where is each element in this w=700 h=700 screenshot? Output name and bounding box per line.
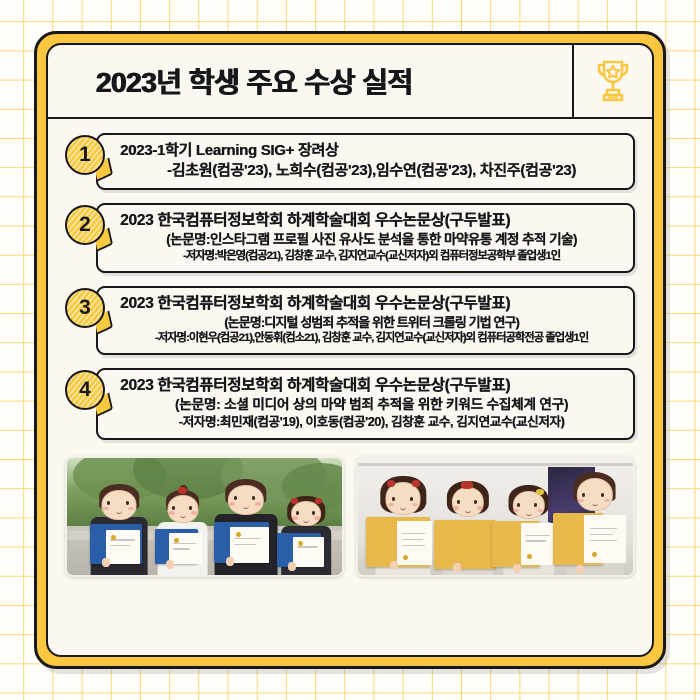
page-title: 2023년 학생 주요 수상 실적: [96, 61, 413, 101]
award-paper-3: (논문명:디지털 성범죄 추적을 위한 트위터 크롤링 기법 연구): [120, 314, 623, 331]
award-title-1: 2023-1학기 Learning SIG+ 장려상: [120, 141, 623, 161]
award-authors-1: -김초원(컴공'23), 노희수(컴공'23),임수연(컴공'23), 차진주(…: [120, 161, 623, 181]
poster-card: 2023년 학생 주요 수상 실적: [34, 31, 666, 669]
award-title-4: 2023 한국컴퓨터정보학회 하계학술대회 우수논문상(구두발표): [120, 376, 623, 396]
award-item-1: 1 2023-1학기 Learning SIG+ 장려상 -김초원(컴공'23)…: [65, 133, 635, 190]
award-box-4: 2023 한국컴퓨터정보학회 하계학술대회 우수논문상(구두발표) (논문명: …: [96, 368, 635, 440]
award-paper-2: (논문명:인스타그램 프로필 사진 유사도 분석을 통한 마약유통 계정 추적 …: [120, 231, 623, 249]
award-title-3: 2023 한국컴퓨터정보학회 하계학술대회 우수논문상(구두발표): [120, 294, 623, 314]
award-authors-3: -저자명:이현우(컴공21),안동휘(컴소21), 김창훈 교수, 김지연교수(…: [120, 331, 623, 346]
award-number-badge-3: 3: [65, 288, 105, 328]
award-paper-4: (논문명: 소셜 미디어 상의 마약 범죄 추적을 위한 키워드 수집체계 연구…: [120, 396, 623, 414]
award-photo-outdoor: [65, 456, 344, 577]
award-photo-indoor: [356, 456, 635, 577]
award-box-1: 2023-1학기 Learning SIG+ 장려상 -김초원(컴공'23), …: [96, 133, 635, 190]
photo-row: [48, 453, 652, 577]
award-number-badge-1: 1: [65, 135, 105, 175]
award-box-3: 2023 한국컴퓨터정보학회 하계학술대회 우수논문상(구두발표) (논문명:디…: [96, 286, 635, 355]
award-item-3: 3 2023 한국컴퓨터정보학회 하계학술대회 우수논문상(구두발표) (논문명…: [65, 286, 635, 355]
award-number-badge-2: 2: [65, 205, 105, 245]
award-authors-2: -저자명:박은영(컴공21), 김창훈 교수, 김지연교수(교신저자)외 컴퓨터…: [120, 249, 623, 264]
award-number-badge-4: 4: [65, 370, 105, 410]
awards-list: 1 2023-1학기 Learning SIG+ 장려상 -김초원(컴공'23)…: [48, 119, 652, 440]
award-title-2: 2023 한국컴퓨터정보학회 하계학술대회 우수논문상(구두발표): [120, 211, 623, 231]
poster-inner-panel: 2023년 학생 주요 수상 실적: [46, 43, 654, 657]
award-box-2: 2023 한국컴퓨터정보학회 하계학술대회 우수논문상(구두발표) (논문명:인…: [96, 203, 635, 273]
award-authors-4: -저자명:최민재(컴공'19), 이호동(컴공'20), 김창훈 교수, 김지연…: [120, 414, 623, 431]
title-zone: 2023년 학생 주요 수상 실적: [48, 45, 572, 117]
poster-header: 2023년 학생 주요 수상 실적: [48, 45, 652, 119]
award-item-4: 4 2023 한국컴퓨터정보학회 하계학술대회 우수논문상(구두발표) (논문명…: [65, 368, 635, 440]
award-item-2: 2 2023 한국컴퓨터정보학회 하계학술대회 우수논문상(구두발표) (논문명…: [65, 203, 635, 273]
trophy-zone: [572, 45, 652, 117]
trophy-icon: [592, 57, 634, 105]
